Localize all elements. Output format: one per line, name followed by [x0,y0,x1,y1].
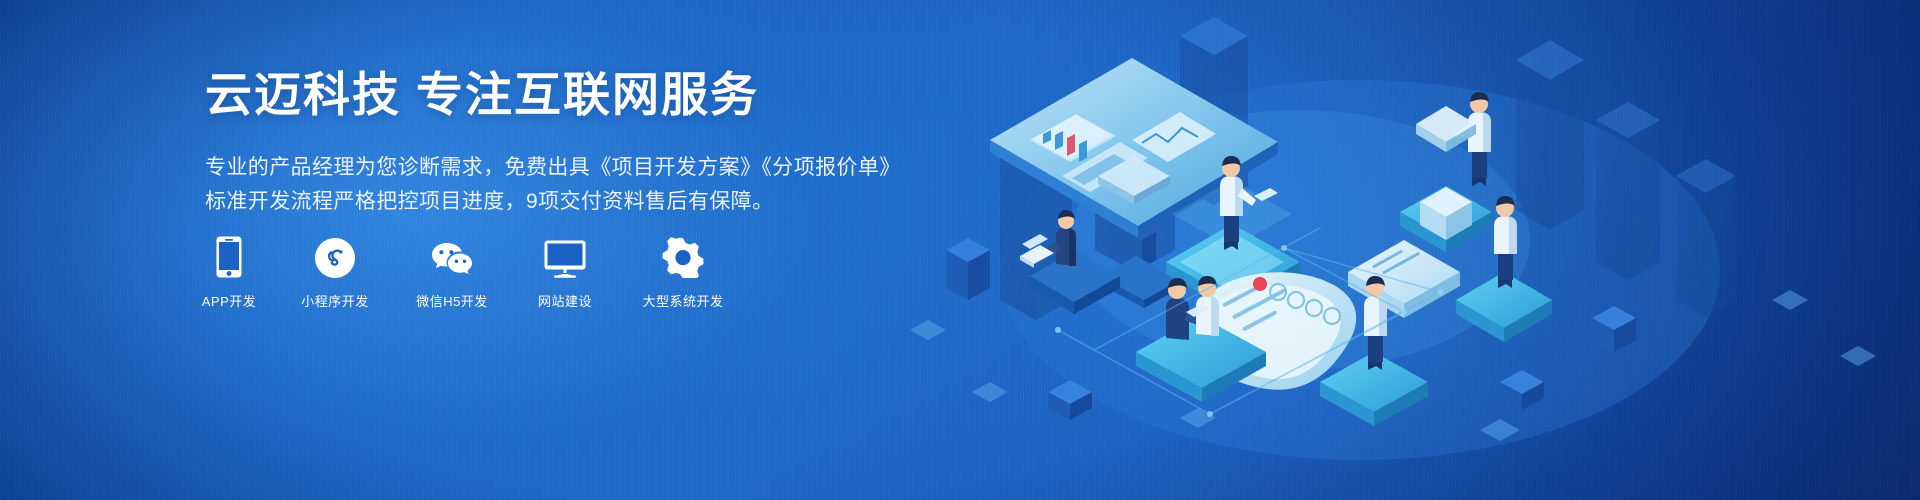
hero-banner: 云迈科技 专注互联网服务 专业的产品经理为您诊断需求，免费出具《项目开发方案》《… [0,0,1920,500]
service-list: APP开发 小程序开发 [203,232,725,310]
service-item-app[interactable]: APP开发 [203,232,255,310]
banner-title: 云迈科技 专注互联网服务 [205,66,925,125]
isometric-illustration [880,0,1920,500]
wechat-icon [430,232,474,278]
banner-copy: 云迈科技 专注互联网服务 专业的产品经理为您诊断需求，免费出具《项目开发方案》《… [205,66,925,219]
gear-icon [662,232,704,278]
subtitle-line-1: 专业的产品经理为您诊断需求，免费出具《项目开发方案》《分项报价单》 [205,151,925,185]
service-label: 微信H5开发 [416,291,488,310]
service-item-large-system[interactable]: 大型系统开发 [641,232,725,310]
monitor-icon [544,232,586,278]
banner-subtitle: 专业的产品经理为您诊断需求，免费出具《项目开发方案》《分项报价单》 标准开发流程… [205,151,925,219]
service-item-website[interactable]: 网站建设 [533,232,597,310]
mobile-phone-icon [216,232,242,278]
service-label: APP开发 [202,291,257,310]
service-label: 网站建设 [538,291,592,310]
mini-program-icon [315,232,355,278]
service-item-mini-program[interactable]: 小程序开发 [299,232,371,310]
service-label: 小程序开发 [301,291,369,310]
service-item-wechat[interactable]: 微信H5开发 [415,232,489,310]
subtitle-line-2: 标准开发流程严格把控项目进度，9项交付资料售后有保障。 [205,185,925,219]
service-label: 大型系统开发 [642,291,723,310]
